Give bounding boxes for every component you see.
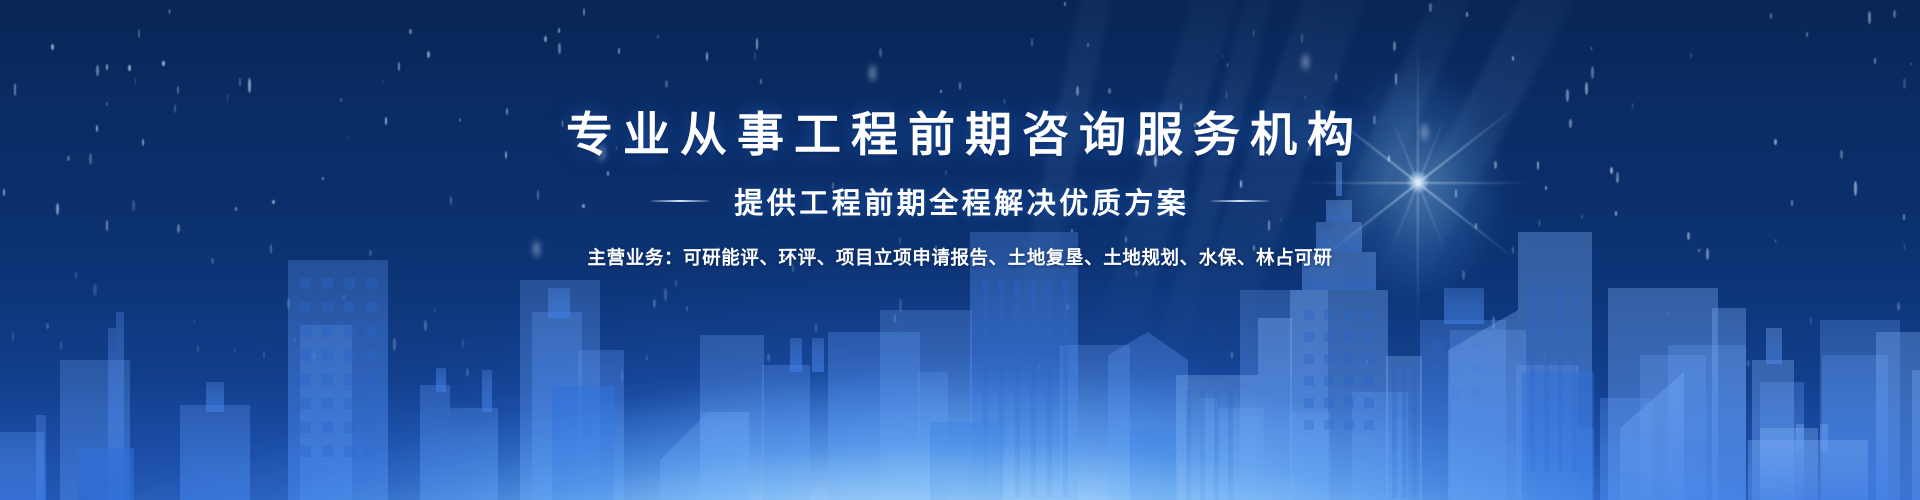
banner-content: 专业从事工程前期咨询服务机构 提供工程前期全程解决优质方案 主营业务：可研能评、…	[0, 0, 1920, 270]
banner-subtitle-row: 提供工程前期全程解决优质方案	[0, 180, 1920, 222]
horizon-glow-arc	[0, 375, 1920, 500]
subtitle-dash-right	[1211, 200, 1269, 202]
hero-banner: 专业从事工程前期咨询服务机构 提供工程前期全程解决优质方案 主营业务：可研能评、…	[0, 0, 1920, 500]
banner-subtitle: 提供工程前期全程解决优质方案	[731, 180, 1190, 222]
banner-headline: 专业从事工程前期咨询服务机构	[0, 0, 1920, 161]
subtitle-dash-left	[651, 200, 709, 202]
banner-services-tagline: 主营业务：可研能评、环评、项目立项申请报告、土地复垦、土地规划、水保、林占可研	[0, 244, 1920, 270]
